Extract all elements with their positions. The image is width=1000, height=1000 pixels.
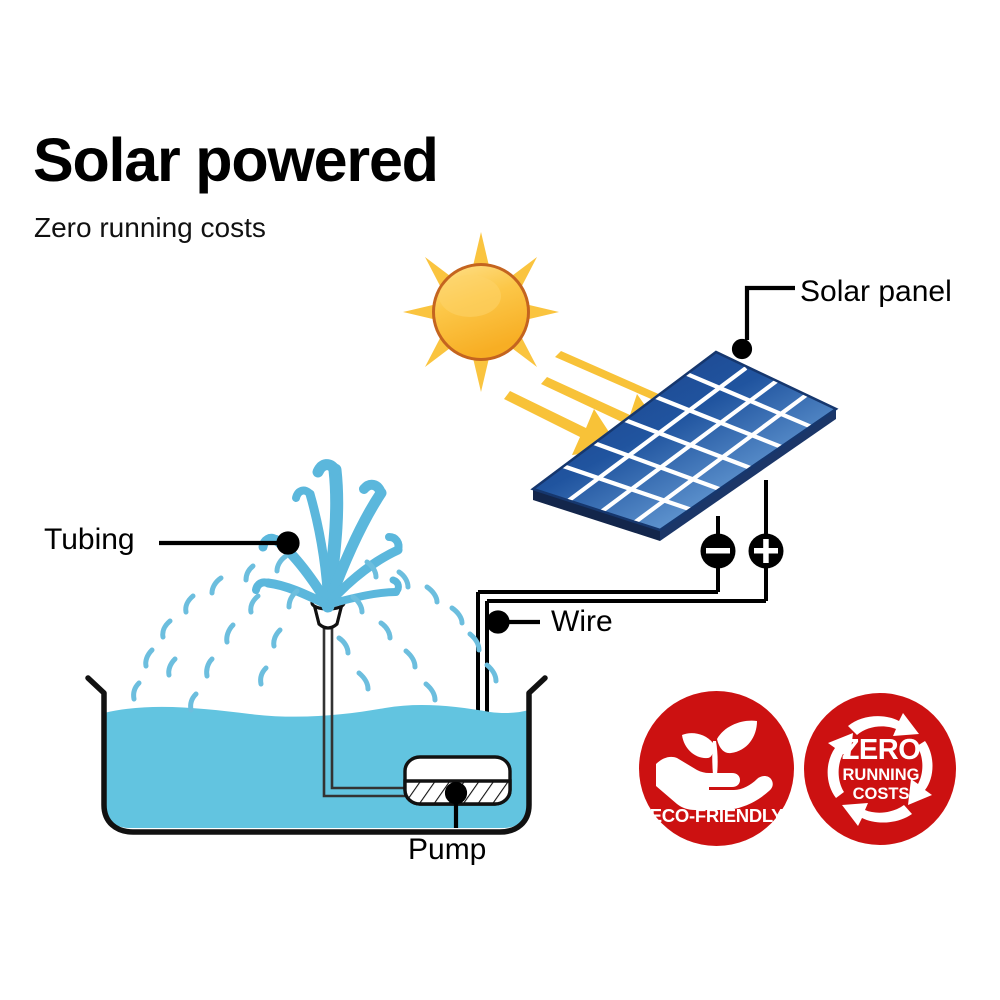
callout-label-solar-panel: Solar panel	[800, 275, 952, 309]
water-spray	[256, 465, 399, 606]
infographic-canvas: Solar powered Zero running costs	[0, 0, 1000, 1000]
badge-eco-label: ECO-FRIENDLY	[650, 805, 784, 826]
callout-label-pump: Pump	[408, 833, 486, 867]
solar-panel	[520, 347, 836, 541]
badge-zero-line3: COSTS	[853, 785, 910, 803]
badge-zero-running-costs: ZERO RUNNING COSTS	[804, 693, 956, 845]
badge-eco-friendly: ECO-FRIENDLY	[639, 691, 794, 846]
solar-fountain-diagram	[0, 0, 1000, 1000]
terminal-negative	[701, 534, 736, 569]
badge-zero-line2: RUNNING	[843, 766, 920, 784]
callout-label-wire: Wire	[551, 605, 613, 639]
sun-icon	[403, 232, 559, 392]
badge-zero-line1: ZERO	[842, 734, 921, 766]
callout-label-tubing: Tubing	[44, 523, 135, 557]
terminal-positive	[749, 534, 784, 569]
